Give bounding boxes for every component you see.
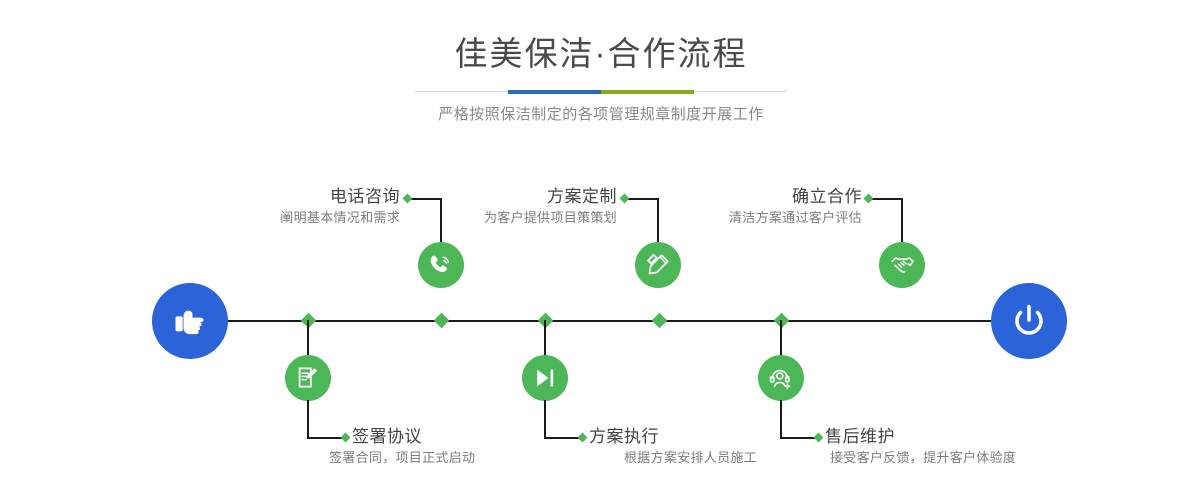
connector-horizontal-1 [408, 198, 442, 200]
diagram-header: 佳美保洁·合作流程 严格按照保洁制定的各项管理规章制度开展工作 [0, 32, 1202, 125]
step-title-4: 方案执行 [589, 426, 757, 448]
connector-vertical-3 [657, 198, 659, 245]
play-execute-icon [532, 365, 558, 391]
connector-horizontal-5 [869, 198, 903, 200]
title-divider [415, 90, 787, 94]
connector-vertical-6 [780, 320, 782, 358]
connector-vertical-1 [440, 198, 442, 245]
power-icon [1008, 300, 1050, 342]
timeline-end-node[interactable] [991, 283, 1067, 359]
step-title-2: 签署协议 [352, 426, 475, 448]
connector-vertical-2 [307, 320, 309, 358]
step-node-4[interactable] [522, 355, 568, 401]
step-title-5: 确立合作 [700, 186, 862, 208]
label-marker-3 [620, 194, 630, 204]
connector-vertical-2b [307, 400, 309, 439]
flow-diagram-canvas: 佳美保洁·合作流程 严格按照保洁制定的各项管理规章制度开展工作 [0, 0, 1202, 502]
step-node-3[interactable] [635, 242, 681, 288]
pencil-ruler-icon [645, 252, 671, 278]
page-subtitle: 严格按照保洁制定的各项管理规章制度开展工作 [0, 105, 1202, 125]
step-title-1: 电话咨询 [254, 186, 400, 208]
connector-vertical-4 [544, 320, 546, 358]
step-label-4: 方案执行 根据方案安排人员施工 [589, 426, 757, 468]
page-title: 佳美保洁·合作流程 [0, 32, 1202, 76]
step-desc-1: 阐明基本情况和需求 [254, 208, 400, 228]
step-desc-6: 接受客户反馈，提升客户体验度 [830, 448, 1016, 468]
label-marker-1 [403, 194, 413, 204]
label-marker-2 [341, 433, 351, 443]
phone-call-icon [428, 252, 454, 278]
label-marker-6 [814, 433, 824, 443]
step-desc-3: 为客户提供项目策策划 [455, 208, 617, 228]
step-desc-4: 根据方案安排人员施工 [624, 448, 757, 468]
document-sign-icon [295, 365, 321, 391]
step-title-6: 售后维护 [825, 426, 1016, 448]
step-desc-5: 清洁方案通过客户评估 [700, 208, 862, 228]
timeline-start-node[interactable] [152, 283, 228, 359]
step-node-2[interactable] [285, 355, 331, 401]
timeline-axis [152, 320, 1050, 322]
connector-horizontal-2 [307, 437, 345, 439]
connector-vertical-4b [544, 400, 546, 439]
step-label-1: 电话咨询 阐明基本情况和需求 [254, 186, 400, 228]
connector-horizontal-4 [544, 437, 582, 439]
axis-marker-5 [652, 313, 668, 329]
step-label-5: 确立合作 清洁方案通过客户评估 [700, 186, 862, 228]
connector-horizontal-3 [625, 198, 659, 200]
step-node-5[interactable] [879, 242, 925, 288]
connector-vertical-5 [901, 198, 903, 245]
step-label-2: 签署协议 签署合同，项目正式启动 [352, 426, 475, 468]
step-desc-2: 签署合同，项目正式启动 [329, 448, 475, 468]
divider-segment-green [601, 90, 694, 94]
customer-support-icon [768, 365, 794, 391]
step-node-6[interactable] [758, 355, 804, 401]
label-marker-4 [578, 433, 588, 443]
label-marker-5 [864, 194, 874, 204]
step-node-1[interactable] [418, 242, 464, 288]
connector-horizontal-6 [780, 437, 818, 439]
step-title-3: 方案定制 [455, 186, 617, 208]
connector-vertical-6b [780, 400, 782, 439]
pointing-hand-icon [170, 301, 210, 341]
handshake-icon [889, 252, 915, 278]
divider-segment-blue [508, 90, 601, 94]
step-label-3: 方案定制 为客户提供项目策策划 [455, 186, 617, 228]
axis-marker-3 [434, 313, 450, 329]
step-label-6: 售后维护 接受客户反馈，提升客户体验度 [825, 426, 1016, 468]
